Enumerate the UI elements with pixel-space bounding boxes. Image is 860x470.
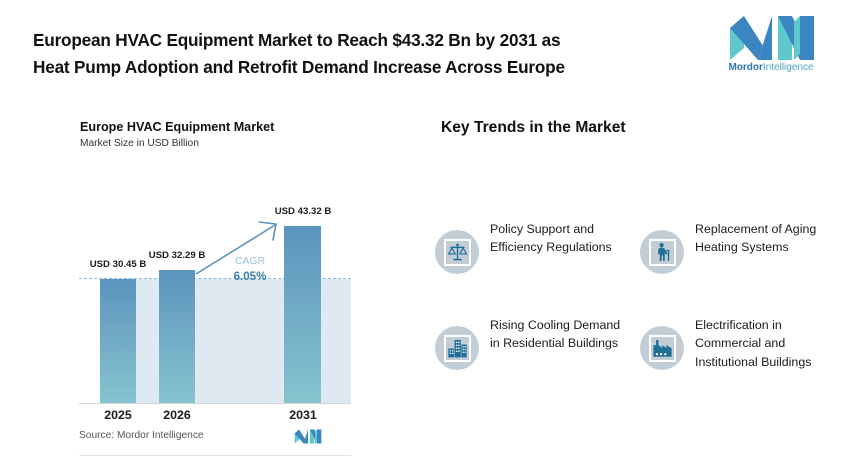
chart-subtitle: Market Size in USD Billion (80, 138, 199, 149)
trend-icon-frame (649, 335, 676, 362)
chart-bottom-divider (79, 455, 351, 456)
trend-label: Rising Cooling Demand in Residential Bui… (490, 316, 628, 353)
residential-buildings-icon (447, 338, 468, 359)
market-size-chart-panel: Europe HVAC Equipment Market Market Size… (60, 108, 370, 458)
mordor-intelligence-logo: MordorIntelligence (714, 16, 828, 80)
logo-word-mordor: Mordor (728, 62, 762, 73)
trend-item-policy-support: Policy Support and Efficiency Regulation… (432, 218, 628, 314)
mordor-logo-wordmark: MordorIntelligence (714, 62, 828, 74)
balance-scales-icon (447, 242, 468, 263)
logo-word-intelligence: Intelligence (763, 62, 814, 73)
trend-icon-circle (640, 230, 684, 274)
trend-item-electrification: Electrification in Commercial and Instit… (637, 314, 833, 410)
page-title-line-1: European HVAC Equipment Market to Reach … (33, 27, 673, 54)
trend-label: Electrification in Commercial and Instit… (695, 316, 833, 371)
factory-icon (652, 338, 673, 359)
mordor-logo-mark-small (294, 428, 322, 445)
elderly-person-icon (652, 242, 673, 263)
trend-item-rising-cooling-demand: Rising Cooling Demand in Residential Bui… (432, 314, 628, 410)
key-trends-title: Key Trends in the Market (441, 119, 626, 137)
trend-icon-circle (640, 326, 684, 370)
trend-label: Replacement of Aging Heating Systems (695, 220, 833, 257)
trend-icon-circle (435, 230, 479, 274)
x-tick-2025: 2025 (84, 408, 152, 422)
bar-chart-plot-area: USD 30.45 B USD 32.29 B USD 43.32 B CAGR… (79, 170, 351, 404)
trend-icon-circle (435, 326, 479, 370)
trend-icon-frame (649, 239, 676, 266)
trend-label: Policy Support and Efficiency Regulation… (490, 220, 628, 257)
chart-source-text: Source: Mordor Intelligence (79, 430, 204, 441)
key-trends-panel: Key Trends in the Market Policy Support … (420, 108, 860, 438)
chart-footer: Source: Mordor Intelligence (79, 428, 351, 450)
page-title: European HVAC Equipment Market to Reach … (33, 27, 673, 81)
chart-title: Europe HVAC Equipment Market (80, 120, 274, 134)
trend-icon-frame (444, 335, 471, 362)
trend-item-aging-heating-systems: Replacement of Aging Heating Systems (637, 218, 833, 314)
cagr-growth-arrow (79, 170, 351, 404)
page-header: European HVAC Equipment Market to Reach … (0, 0, 860, 96)
x-tick-2026: 2026 (143, 408, 211, 422)
trend-icon-frame (444, 239, 471, 266)
page-title-line-2: Heat Pump Adoption and Retrofit Demand I… (33, 54, 673, 81)
x-tick-2031: 2031 (269, 408, 337, 422)
mordor-logo-mark (728, 16, 816, 60)
